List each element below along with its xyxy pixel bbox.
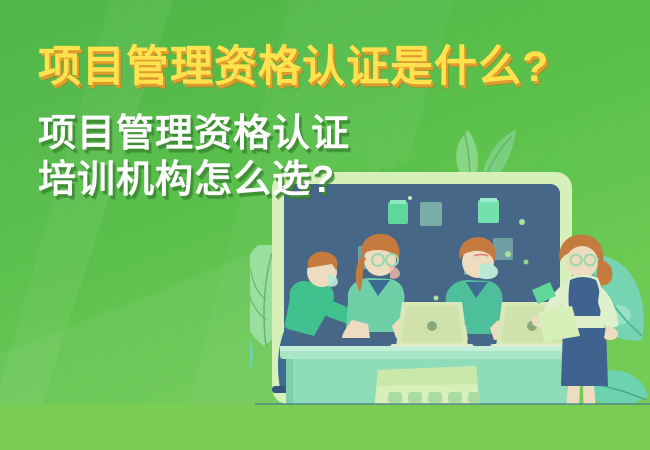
sticky-note [420,202,442,226]
subtitle-line-2: 培训机构怎么选? [38,157,638,203]
subtitle-line-1: 项目管理资格认证 [38,111,638,157]
promo-banner: 项目管理资格认证是什么? 项目管理资格认证 培训机构怎么选? [0,0,650,450]
headline-block: 项目管理资格认证是什么? 项目管理资格认证 培训机构怎么选? [38,46,638,204]
subtitle-block: 项目管理资格认证 培训机构怎么选? [38,111,638,204]
page-title: 项目管理资格认证是什么? [38,46,638,89]
sticky-note [388,202,408,224]
ground-baseline [255,403,650,405]
laptop-left [390,302,474,351]
sticky-note [493,238,513,260]
ground-strip [0,404,650,450]
